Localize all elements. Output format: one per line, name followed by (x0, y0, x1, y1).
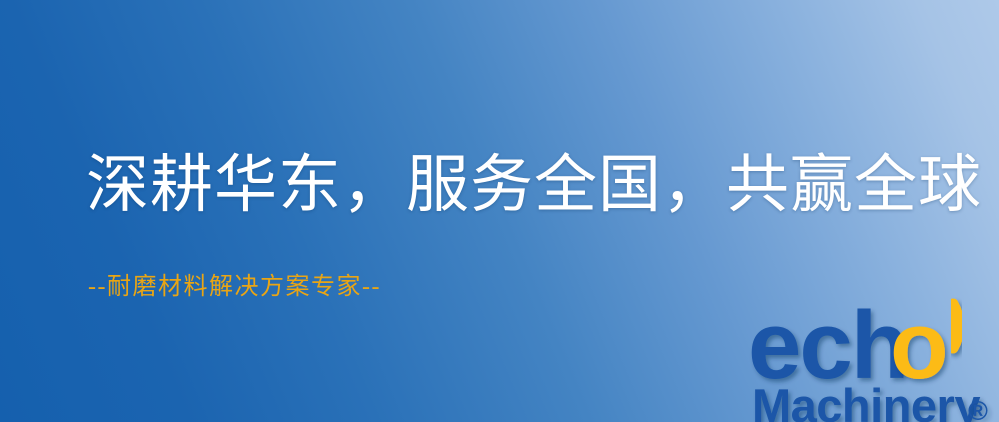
logo-text-machinery: Machinery (752, 379, 980, 422)
logo-trademark-symbol: ® (968, 396, 988, 422)
promo-banner: 深耕华东，服务全国，共赢全球 --耐磨材料解决方案专家-- ech o Mach… (0, 0, 999, 422)
banner-headline: 深耕华东，服务全国，共赢全球 (86, 148, 982, 222)
echo-machinery-logo: ech o Machinery ® (748, 288, 999, 422)
banner-subtitle: --耐磨材料解决方案专家-- (88, 266, 381, 301)
signal-arcs-icon (953, 304, 959, 348)
